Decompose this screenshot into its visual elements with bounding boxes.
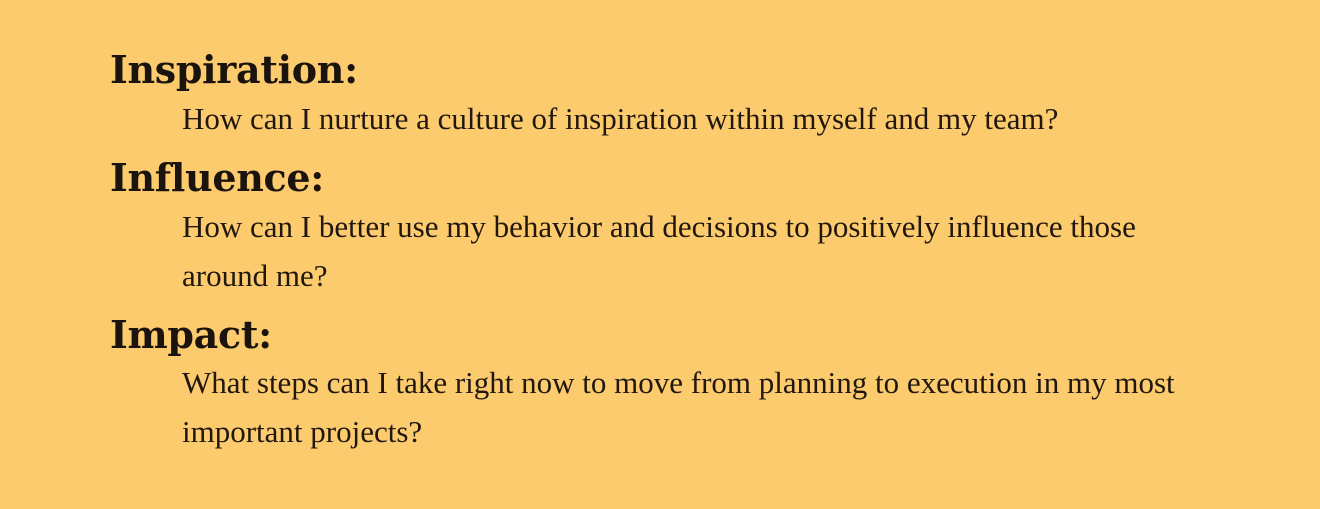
section-heading-impact: Impact: xyxy=(110,313,1220,358)
section-heading-influence: Influence: xyxy=(110,156,1220,201)
section-influence: Influence: How can I better use my behav… xyxy=(110,156,1220,301)
content-block: Inspiration: How can I nurture a culture… xyxy=(110,48,1220,457)
section-body-influence: How can I better use my behavior and dec… xyxy=(182,203,1192,301)
slide-canvas: Inspiration: How can I nurture a culture… xyxy=(0,0,1320,509)
section-body-impact: What steps can I take right now to move … xyxy=(182,359,1192,457)
section-impact: Impact: What steps can I take right now … xyxy=(110,313,1220,458)
section-body-inspiration: How can I nurture a culture of inspirati… xyxy=(182,95,1192,144)
section-heading-inspiration: Inspiration: xyxy=(110,48,1220,93)
section-inspiration: Inspiration: How can I nurture a culture… xyxy=(110,48,1220,144)
